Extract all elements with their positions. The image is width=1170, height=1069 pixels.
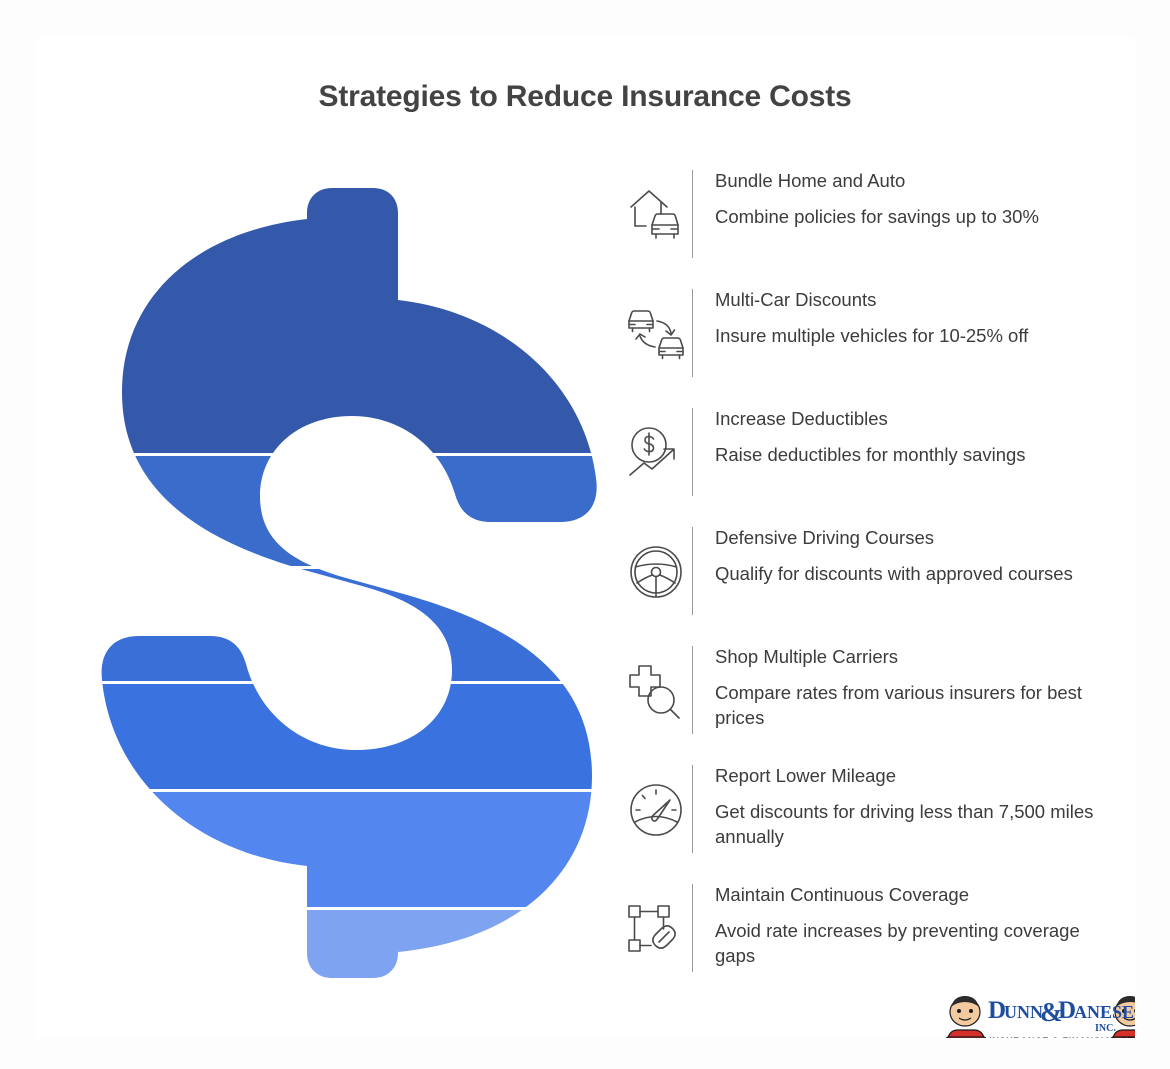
logo-left-mascot bbox=[946, 996, 986, 1038]
item-text: Shop Multiple Carriers Compare rates fro… bbox=[693, 644, 1100, 730]
linked-nodes-chain-icon bbox=[620, 896, 692, 960]
list-item[interactable]: Bundle Home and Auto Combine policies fo… bbox=[620, 168, 1100, 260]
item-text: Bundle Home and Auto Combine policies fo… bbox=[693, 168, 1100, 230]
item-description: Raise deductibles for monthly savings bbox=[715, 443, 1100, 468]
odometer-gauge-icon bbox=[620, 777, 692, 841]
list-item[interactable]: Multi-Car Discounts Insure multiple vehi… bbox=[620, 287, 1100, 379]
item-text: Maintain Continuous Coverage Avoid rate … bbox=[693, 882, 1100, 968]
item-description: Qualify for discounts with approved cour… bbox=[715, 562, 1100, 587]
two-cars-swap-icon bbox=[620, 301, 692, 365]
item-title: Maintain Continuous Coverage bbox=[715, 883, 1100, 906]
item-title: Bundle Home and Auto bbox=[715, 169, 1100, 192]
item-text: Report Lower Mileage Get discounts for d… bbox=[693, 763, 1100, 849]
item-title: Defensive Driving Courses bbox=[715, 526, 1100, 549]
item-description: Insure multiple vehicles for 10-25% off bbox=[715, 324, 1100, 349]
dollar-band-4 bbox=[100, 684, 605, 789]
dollar-band-1 bbox=[100, 188, 605, 453]
dollar-sign-bands bbox=[100, 188, 605, 978]
item-text: Defensive Driving Courses Qualify for di… bbox=[693, 525, 1100, 587]
list-item[interactable]: Increase Deductibles Raise deductibles f… bbox=[620, 406, 1100, 498]
item-text: Increase Deductibles Raise deductibles f… bbox=[693, 406, 1100, 468]
strategy-list: Bundle Home and Auto Combine policies fo… bbox=[620, 168, 1100, 974]
dollar-band-3 bbox=[100, 569, 605, 681]
item-description: Compare rates from various insurers for … bbox=[715, 681, 1100, 730]
dollar-band-5 bbox=[100, 792, 605, 907]
dollar-sign-graphic bbox=[100, 188, 605, 978]
item-title: Shop Multiple Carriers bbox=[715, 645, 1100, 668]
list-item[interactable]: Maintain Continuous Coverage Avoid rate … bbox=[620, 882, 1100, 974]
dollar-coin-rising-arrow-icon bbox=[620, 420, 692, 484]
logo-tagline: INSURANCE & FINANCIAL SERVICES bbox=[989, 1036, 1135, 1038]
list-item[interactable]: Report Lower Mileage Get discounts for d… bbox=[620, 763, 1100, 855]
list-item[interactable]: Defensive Driving Courses Qualify for di… bbox=[620, 525, 1100, 617]
item-title: Report Lower Mileage bbox=[715, 764, 1100, 787]
infographic-card: Strategies to Reduce Insurance Costs bbox=[35, 38, 1135, 1038]
item-text: Multi-Car Discounts Insure multiple vehi… bbox=[693, 287, 1100, 349]
house-and-car-icon bbox=[620, 182, 692, 246]
item-title: Multi-Car Discounts bbox=[715, 288, 1100, 311]
logo-inc-suffix: INC. bbox=[1095, 1023, 1116, 1034]
company-logo[interactable]: D UNN & D ANESE INC. INSURANCE & FINANCI… bbox=[940, 990, 1135, 1038]
item-description: Get discounts for driving less than 7,50… bbox=[715, 800, 1100, 849]
dollar-band-6 bbox=[100, 910, 605, 978]
logo-wordmark-dunn-rest: UNN bbox=[1004, 1002, 1043, 1022]
plus-and-magnifier-icon bbox=[620, 658, 692, 722]
page-title: Strategies to Reduce Insurance Costs bbox=[35, 80, 1135, 114]
dollar-band-2 bbox=[100, 456, 605, 566]
item-description: Combine policies for savings up to 30% bbox=[715, 205, 1100, 230]
list-item[interactable]: Shop Multiple Carriers Compare rates fro… bbox=[620, 644, 1100, 736]
item-description: Avoid rate increases by preventing cover… bbox=[715, 919, 1100, 968]
steering-wheel-icon bbox=[620, 539, 692, 603]
logo-wordmark-danese-rest: ANESE bbox=[1074, 1002, 1134, 1022]
item-title: Increase Deductibles bbox=[715, 407, 1100, 430]
